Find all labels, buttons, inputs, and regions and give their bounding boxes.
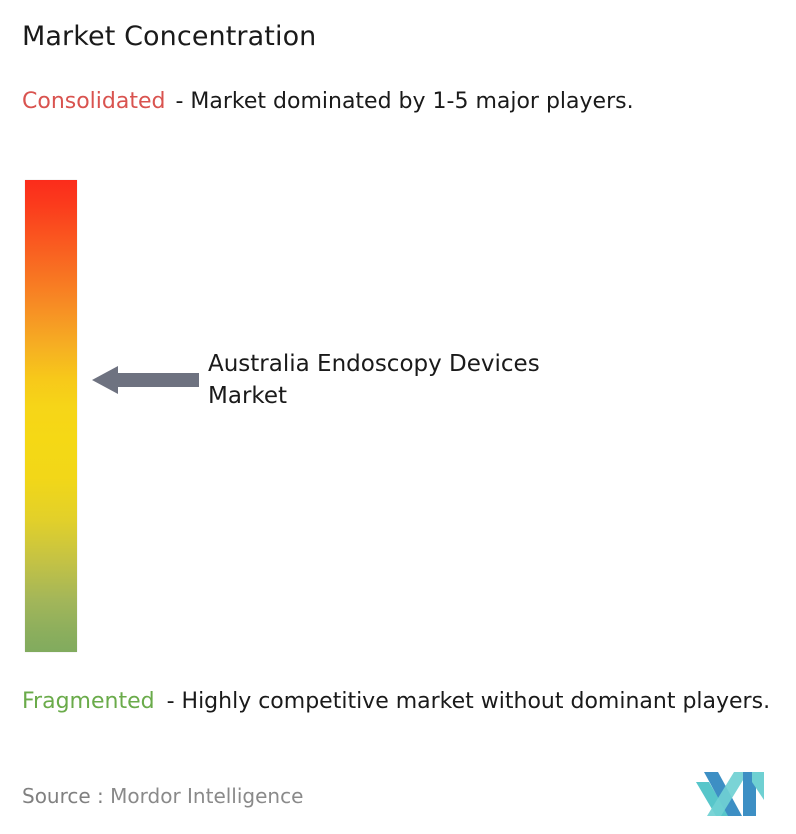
legend-consolidated: Consolidated- Market dominated by 1-5 ma… [22, 86, 774, 117]
arrow-left-icon [92, 363, 199, 397]
source-attribution: Source : Mordor Intelligence [22, 782, 303, 810]
market-label: Australia Endoscopy Devices Market [208, 348, 588, 412]
legend-fragmented-description: - Highly competitive market without domi… [167, 689, 770, 714]
legend-fragmented: Fragmented- Highly competitive market wi… [22, 686, 782, 717]
source-label: Source : [22, 784, 104, 808]
legend-consolidated-description: - Market dominated by 1-5 major players. [175, 89, 633, 114]
mordor-intelligence-logo [696, 770, 766, 818]
legend-consolidated-term: Consolidated [22, 89, 165, 114]
page-title: Market Concentration [22, 20, 316, 54]
concentration-gradient-bar [25, 180, 77, 652]
source-value: Mordor Intelligence [110, 784, 303, 808]
legend-fragmented-term: Fragmented [22, 689, 155, 714]
